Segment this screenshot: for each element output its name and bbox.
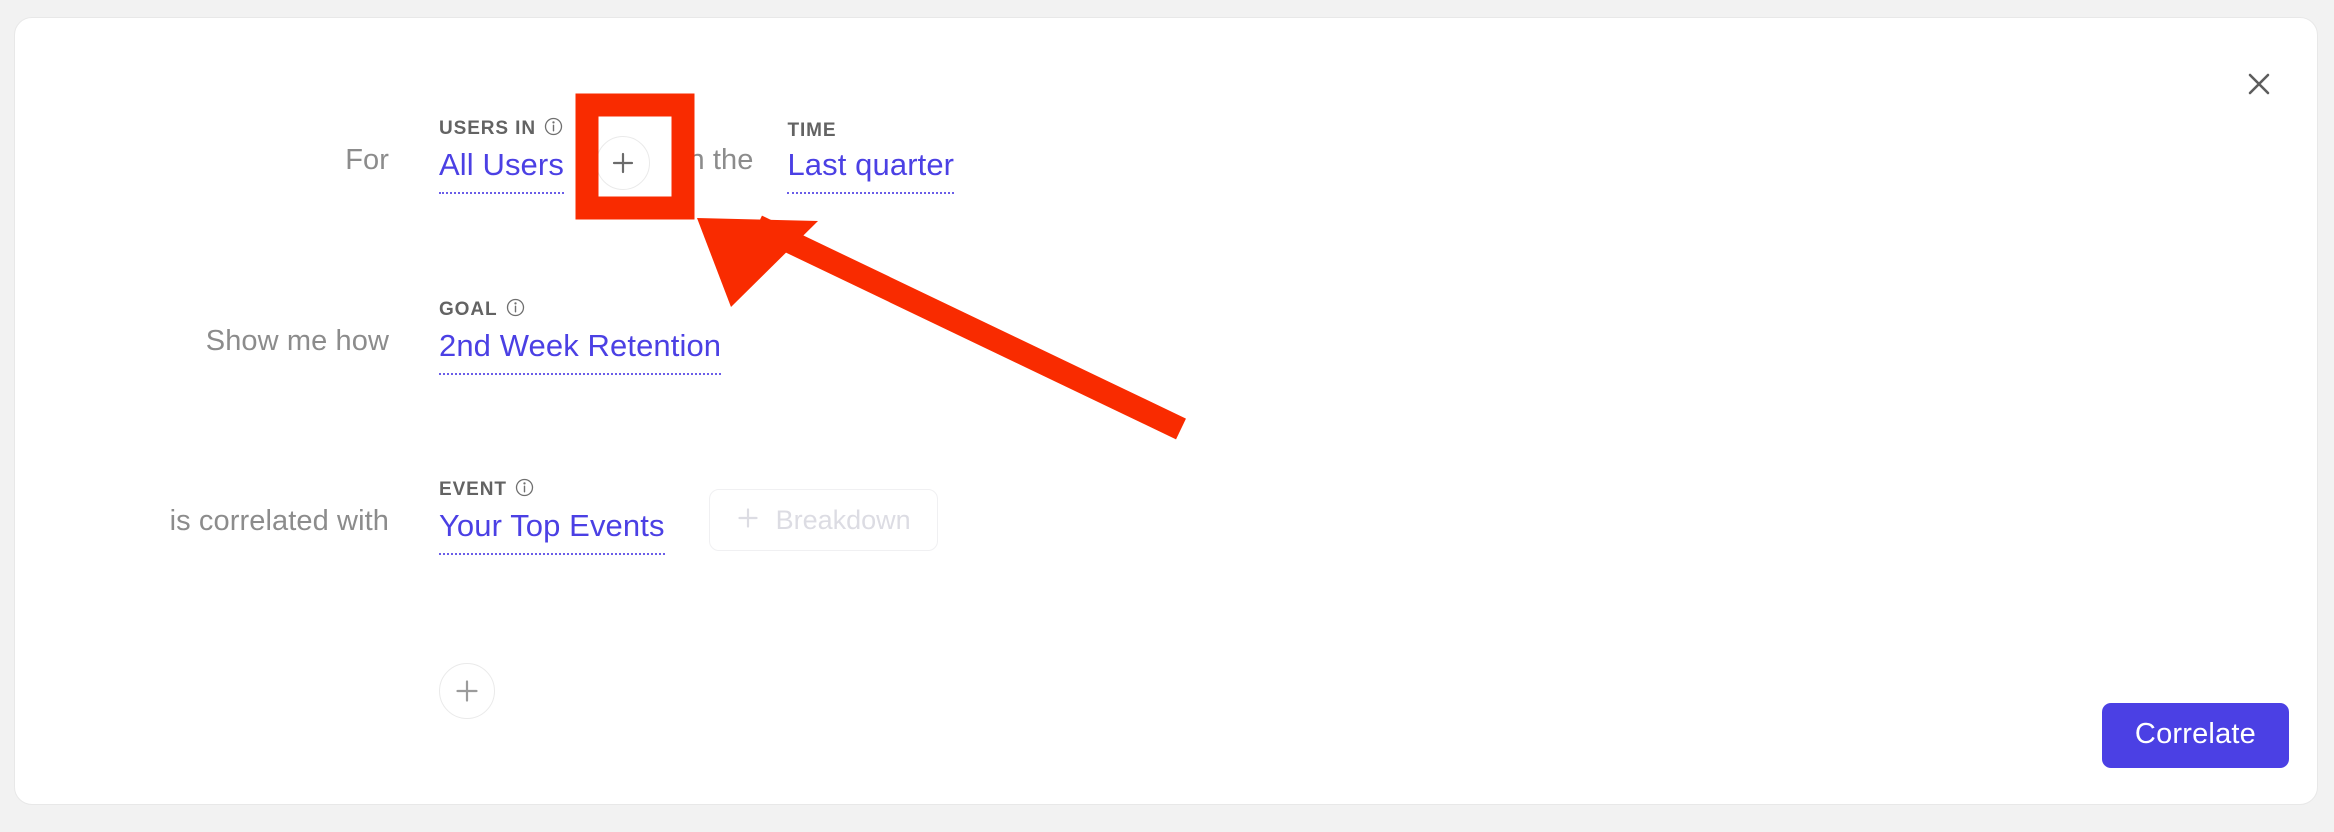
add-users-filter-plus-button[interactable] — [596, 136, 650, 190]
correlate-button[interactable]: Correlate — [2102, 703, 2289, 768]
time-label-group: TIME — [787, 121, 836, 140]
add-breakdown-button[interactable]: Breakdown — [709, 489, 938, 551]
plus-icon — [736, 506, 760, 535]
row-users-fields: USERS IN All Users — [439, 102, 954, 194]
row-prefix-goal-container: Show me how — [15, 283, 403, 375]
query-row-goal: Show me how GOAL 2nd Week Retention — [15, 283, 2317, 375]
correlation-dialog-card: For USERS IN All Users — [14, 17, 2318, 805]
row-prefix-users-container: For — [15, 102, 403, 194]
time-field: TIME Last quarter — [787, 121, 954, 194]
connector-in-the: in the — [682, 146, 754, 194]
goal-field: GOAL 2nd Week Retention — [439, 298, 721, 375]
row-prefix-goal: Show me how — [206, 327, 389, 375]
row-prefix-users: For — [345, 146, 389, 194]
row-event-fields: EVENT Your Top Events — [439, 463, 938, 555]
query-row-event: is correlated with EVENT Your Top Events — [15, 463, 2317, 555]
users-in-label-group: USERS IN — [439, 117, 563, 140]
users-in-label: USERS IN — [439, 119, 536, 138]
plus-icon — [610, 150, 636, 176]
users-in-value[interactable]: All Users — [439, 148, 564, 194]
event-field: EVENT Your Top Events — [439, 478, 665, 555]
row-prefix-event: is correlated with — [170, 507, 389, 555]
goal-value[interactable]: 2nd Week Retention — [439, 329, 721, 375]
row-prefix-event-container: is correlated with — [15, 463, 403, 555]
query-row-users: For USERS IN All Users — [15, 102, 2317, 194]
breakdown-label: Breakdown — [776, 507, 911, 534]
add-query-row-button[interactable] — [439, 663, 495, 719]
time-label: TIME — [787, 121, 836, 140]
event-label: EVENT — [439, 480, 507, 499]
row-goal-fields: GOAL 2nd Week Retention — [439, 283, 721, 375]
event-label-group: EVENT — [439, 478, 534, 501]
plus-icon — [453, 677, 481, 705]
users-in-field: USERS IN All Users — [439, 117, 564, 194]
info-icon[interactable] — [506, 298, 525, 321]
info-icon[interactable] — [515, 478, 534, 501]
add-users-filter-wrapper — [596, 136, 650, 190]
time-value[interactable]: Last quarter — [787, 148, 954, 194]
goal-label-group: GOAL — [439, 298, 525, 321]
close-icon — [2244, 69, 2274, 99]
goal-label: GOAL — [439, 300, 498, 319]
info-icon[interactable] — [544, 117, 563, 140]
event-value[interactable]: Your Top Events — [439, 509, 665, 555]
close-button[interactable] — [2237, 62, 2281, 106]
